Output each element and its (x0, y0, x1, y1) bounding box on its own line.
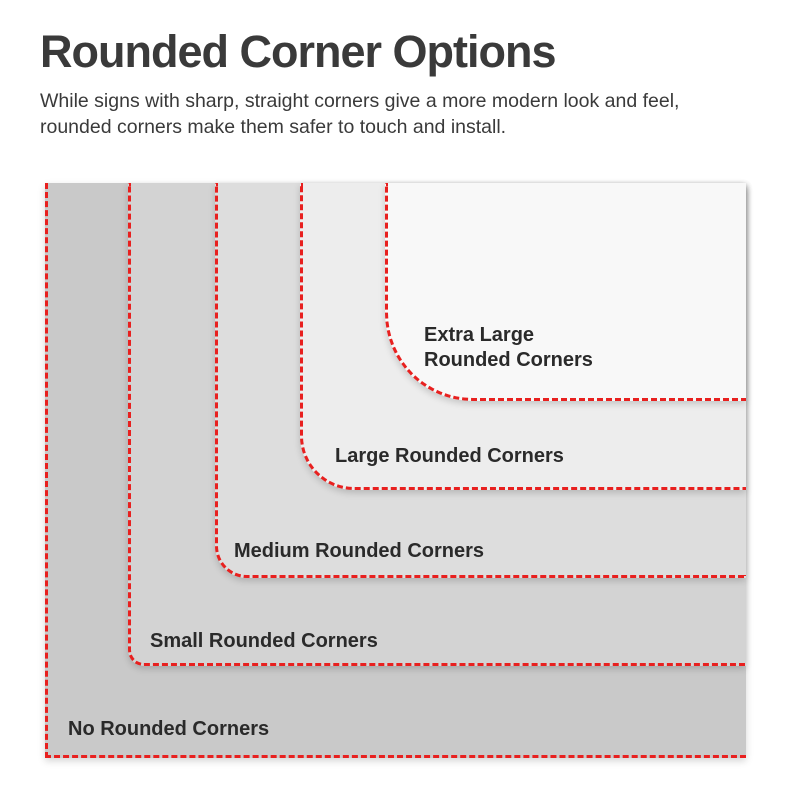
label-small-rounded-corners: Small Rounded Corners (150, 629, 378, 654)
label-extra-large-rounded-corners: Extra Large Rounded Corners (424, 323, 593, 373)
page-root: Rounded Corner Options While signs with … (0, 0, 800, 800)
rounded-corner-diagram: No Rounded CornersSmall Rounded CornersM… (0, 0, 800, 800)
label-large-rounded-corners: Large Rounded Corners (335, 444, 564, 469)
label-no-rounded-corners: No Rounded Corners (68, 717, 269, 742)
label-medium-rounded-corners: Medium Rounded Corners (234, 539, 484, 564)
